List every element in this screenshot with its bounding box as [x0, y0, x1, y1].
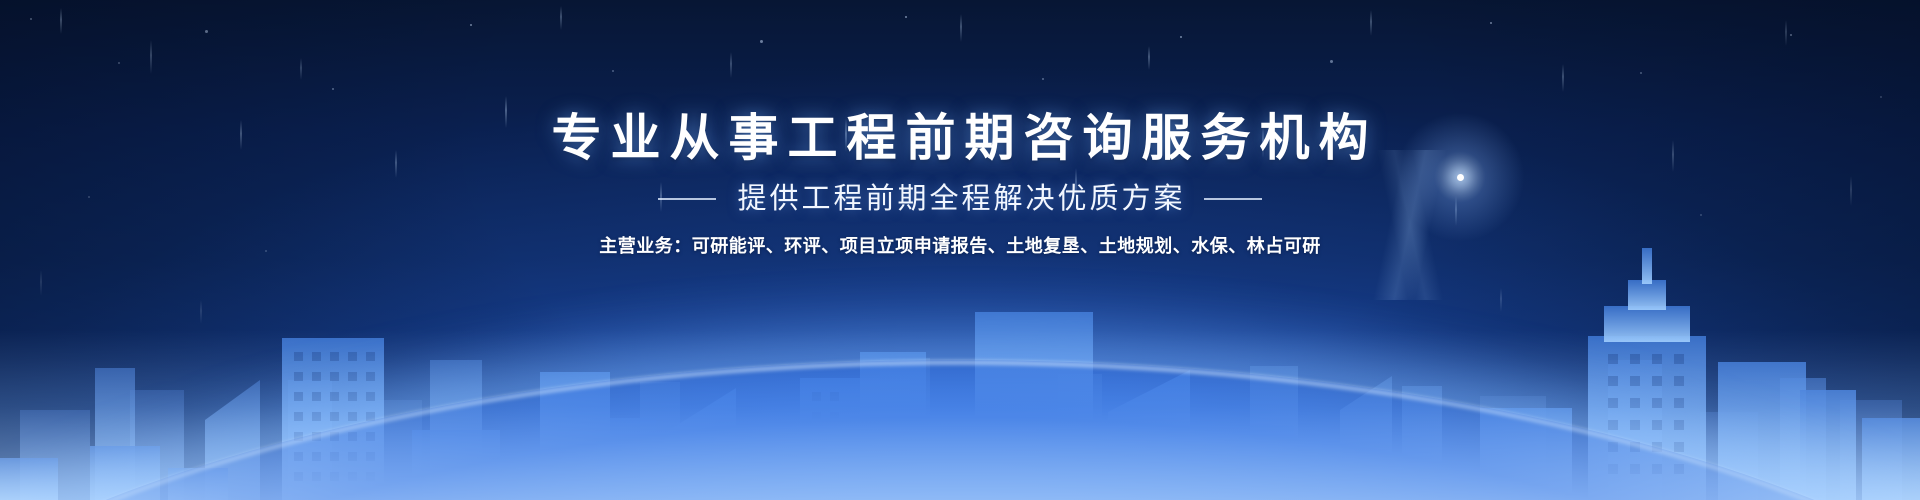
rule-left-icon [658, 198, 716, 200]
banner-subtitle-row: 提供工程前期全程解决优质方案 [0, 181, 1920, 217]
banner-subtitle: 提供工程前期全程解决优质方案 [734, 181, 1185, 217]
rule-right-icon [1204, 198, 1262, 200]
banner-copy: 专业从事工程前期咨询服务机构 提供工程前期全程解决优质方案 主营业务：可研能评、… [0, 0, 1920, 259]
banner-title: 专业从事工程前期咨询服务机构 [0, 0, 1920, 167]
banner-services: 主营业务：可研能评、环评、项目立项申请报告、土地复垦、土地规划、水保、林占可研 [0, 233, 1920, 259]
hero-banner: 专业从事工程前期咨询服务机构 提供工程前期全程解决优质方案 主营业务：可研能评、… [0, 0, 1920, 500]
